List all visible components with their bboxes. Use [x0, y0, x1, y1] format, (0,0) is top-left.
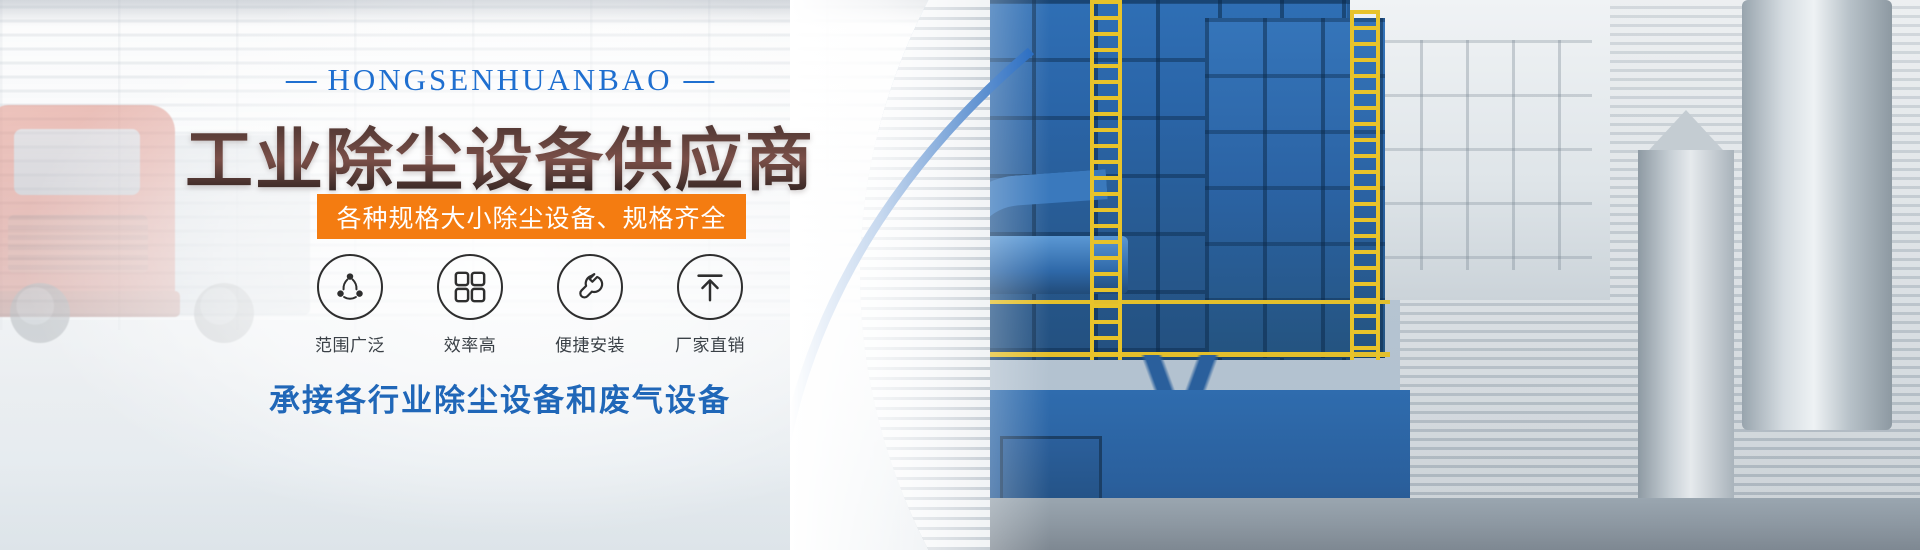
grid-four-squares-icon-svg	[453, 270, 487, 304]
banner-content: — HONGSENHUANBAO — 工业除尘设备供应商 各种规格大小除尘设备、…	[0, 0, 1000, 550]
page-title: 工业除尘设备供应商	[0, 105, 1000, 204]
feature-item-install[interactable]: 便捷安装	[540, 254, 640, 356]
feature-item-efficiency[interactable]: 效率高	[420, 254, 520, 356]
yellow-ladder-left	[1090, 0, 1122, 360]
hero-banner: — HONGSENHUANBAO — 工业除尘设备供应商 各种规格大小除尘设备、…	[0, 0, 1920, 550]
feature-label: 效率高	[420, 331, 520, 356]
brand-eyebrow: — HONGSENHUANBAO —	[0, 62, 1000, 98]
feature-item-range[interactable]: 范围广泛	[300, 254, 400, 356]
feature-label: 便捷安装	[540, 331, 640, 356]
eyebrow-dash-right: —	[683, 62, 714, 98]
yellow-ladder-right	[1350, 10, 1380, 360]
wrench-icon	[557, 254, 623, 320]
wrench-icon-svg	[571, 268, 609, 306]
eyebrow-dash-left: —	[286, 62, 317, 98]
arrow-up-bar-icon	[677, 254, 743, 320]
silo-tank-secondary	[1638, 150, 1734, 550]
network-nodes-icon-svg	[331, 268, 369, 306]
feature-list: 范围广泛 效率高	[300, 254, 760, 356]
handrail-upper	[970, 300, 1390, 304]
feature-label: 范围广泛	[300, 331, 400, 356]
feature-label: 厂家直销	[660, 331, 760, 356]
feature-item-direct-sales[interactable]: 厂家直销	[660, 254, 760, 356]
arrow-up-bar-icon-svg	[693, 270, 727, 304]
network-nodes-icon	[317, 254, 383, 320]
eyebrow-text: HONGSENHUANBAO	[327, 62, 672, 97]
subtitle-orange-bar: 各种规格大小除尘设备、规格齐全	[317, 194, 746, 239]
silo-tank	[1742, 0, 1892, 430]
grid-four-squares-icon	[437, 254, 503, 320]
tagline-text: 承接各行业除尘设备和废气设备	[0, 375, 1000, 420]
subtitle-text: 各种规格大小除尘设备、规格齐全	[336, 199, 726, 235]
